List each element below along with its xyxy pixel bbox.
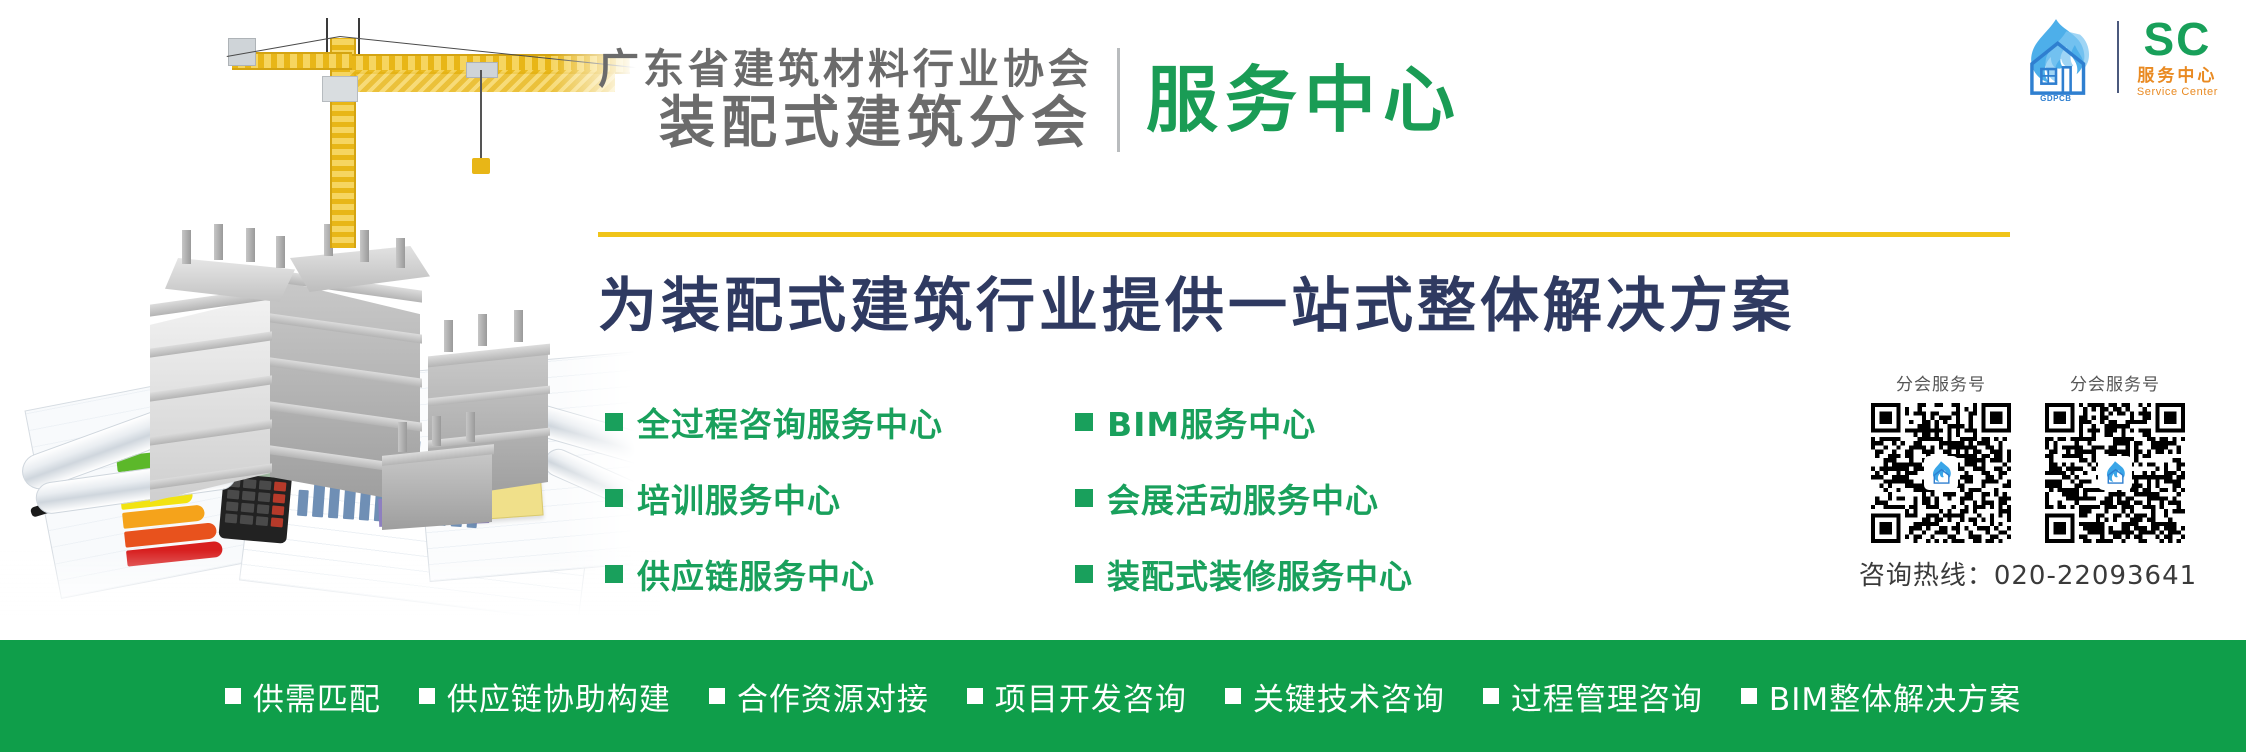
bullet-square-icon [1075,565,1093,583]
bullet-square-icon [1075,413,1093,431]
logo-divider [2117,21,2119,93]
logo-service-center-cn: 服务中心 [2137,67,2217,84]
logo-sc-abbr: SC [2143,16,2211,62]
crane-cabin [322,76,358,102]
bullet-square-icon [419,688,435,704]
service-item-label: 装配式装修服务中心 [1107,550,1413,598]
footer-item[interactable]: BIM整体解决方案 [1741,674,2021,719]
bullet-square-icon [1741,688,1757,704]
service-center-title: 服务中心 [1146,64,1462,136]
tagline: 为装配式建筑行业提供一站式整体解决方案 [598,258,1795,343]
footer-item[interactable]: 供需匹配 [225,674,381,719]
building-model-graphic [110,200,580,530]
bullet-square-icon [1075,489,1093,507]
service-item-label: BIM服务中心 [1107,398,1316,446]
bullet-square-icon [1225,688,1241,704]
footer-item-label: 关键技术咨询 [1253,674,1445,719]
service-center-list: 全过程咨询服务中心 培训服务中心 供应链服务中心 BIM服务中心 [605,398,1413,598]
qr-code-image[interactable] [1871,403,2011,543]
footer-item[interactable]: 供应链协助构建 [419,674,671,719]
footer-item[interactable]: 过程管理咨询 [1483,674,1703,719]
gdpcb-house-flame-icon: GDPCB [2013,14,2099,100]
footer-service-bar: 供需匹配 供应链协助构建 合作资源对接 项目开发咨询 关键技术咨询 过程管理咨询… [0,640,2246,752]
qr-code-block: 分会服务号 [2045,370,2185,543]
qr-section: 分会服务号 分会服务号 [1838,370,2218,592]
bullet-square-icon [605,565,623,583]
crane-hook [472,158,490,174]
footer-item-label: 供需匹配 [253,674,381,719]
footer-item-label: 项目开发咨询 [995,674,1187,719]
service-item-label: 培训服务中心 [637,474,841,522]
service-item[interactable]: BIM服务中心 [1075,398,1413,446]
bullet-square-icon [1483,688,1499,704]
association-line-2: 装配式建筑分会 [659,96,1093,152]
yellow-divider-rule [598,232,2010,237]
service-item-label: 供应链服务中心 [637,550,875,598]
footer-item[interactable]: 合作资源对接 [709,674,929,719]
qr-code-block: 分会服务号 [1871,370,2011,543]
service-column-left: 全过程咨询服务中心 培训服务中心 供应链服务中心 [605,398,943,598]
bullet-square-icon [605,489,623,507]
brand-logo: GDPCB SC 服务中心 Service Center [2013,14,2218,100]
footer-item-label: BIM整体解决方案 [1769,674,2021,719]
service-column-right: BIM服务中心 会展活动服务中心 装配式装修服务中心 [1075,398,1413,598]
hotline-text: 咨询热线：020-22093641 [1838,555,2218,592]
bullet-square-icon [605,413,623,431]
footer-item[interactable]: 关键技术咨询 [1225,674,1445,719]
association-line-1: 广东省建筑材料行业协会 [598,49,1093,90]
title-block: 广东省建筑材料行业协会 装配式建筑分会 服务中心 [598,48,1462,152]
service-item-label: 全过程咨询服务中心 [637,398,943,446]
footer-item-label: 过程管理咨询 [1511,674,1703,719]
logo-text-block: SC 服务中心 Service Center [2137,16,2218,98]
footer-item[interactable]: 项目开发咨询 [967,674,1187,719]
hero-illustration [0,0,660,640]
association-name: 广东省建筑材料行业协会 装配式建筑分会 [598,49,1093,152]
title-vertical-divider [1117,48,1120,152]
qr-center-logo-icon [1924,456,1958,490]
qr-center-logo-icon [2098,456,2132,490]
footer-item-label: 合作资源对接 [737,674,929,719]
qr-caption: 分会服务号 [2070,370,2160,395]
logo-mark-caption: GDPCB [2013,94,2099,103]
logo-service-center-en: Service Center [2137,87,2218,98]
qr-code-image[interactable] [2045,403,2185,543]
service-item[interactable]: 供应链服务中心 [605,550,943,598]
service-item[interactable]: 会展活动服务中心 [1075,474,1413,522]
content-area: GDPCB SC 服务中心 Service Center 广东省建筑材料行业协会… [660,0,2246,640]
qr-caption: 分会服务号 [1896,370,1986,395]
crane-trolley [466,62,498,78]
service-item[interactable]: 培训服务中心 [605,474,943,522]
qr-row: 分会服务号 分会服务号 [1838,370,2218,543]
bullet-square-icon [967,688,983,704]
bullet-square-icon [225,688,241,704]
service-item[interactable]: 全过程咨询服务中心 [605,398,943,446]
crane-hoist-line [480,70,482,162]
service-item-label: 会展活动服务中心 [1107,474,1379,522]
hero-bottom-fade [0,550,660,640]
bullet-square-icon [709,688,725,704]
promotional-banner: GDPCB SC 服务中心 Service Center 广东省建筑材料行业协会… [0,0,2246,752]
footer-item-label: 供应链协助构建 [447,674,671,719]
service-item[interactable]: 装配式装修服务中心 [1075,550,1413,598]
